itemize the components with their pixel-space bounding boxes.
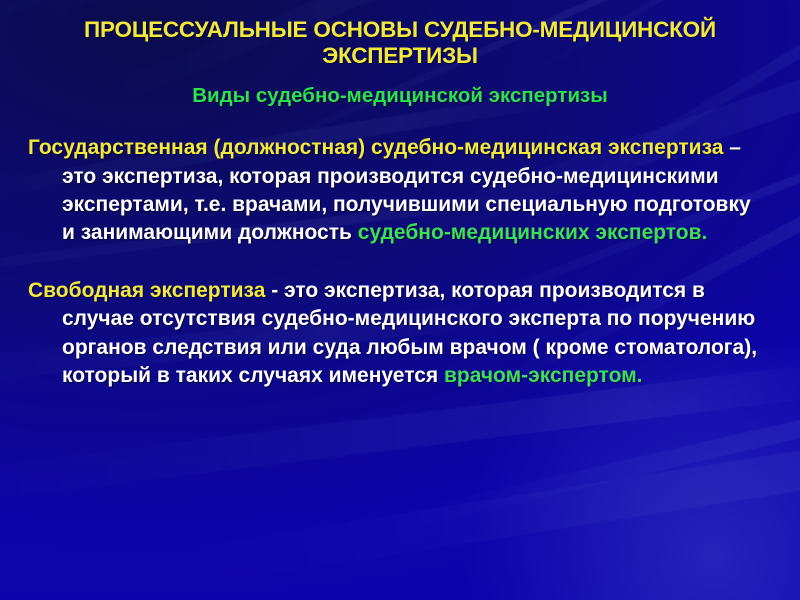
slide-content: ПРОЦЕССУАЛЬНЫЕ ОСНОВЫ СУДЕБНО-МЕДИЦИНСКО… [0,0,800,600]
slide-body: Государственная (должностная) судебно-ме… [18,134,782,390]
presentation-slide: ПРОЦЕССУАЛЬНЫЕ ОСНОВЫ СУДЕБНО-МЕДИЦИНСКО… [0,0,800,600]
definition-paragraph-state-expertise: Государственная (должностная) судебно-ме… [24,134,768,247]
slide-title: ПРОЦЕССУАЛЬНЫЕ ОСНОВЫ СУДЕБНО-МЕДИЦИНСКО… [24,17,776,68]
slide-subtitle: Виды судебно-медицинской экспертизы [18,84,782,108]
term-forensic-medical-experts: судебно-медицинских экспертов. [358,221,708,244]
term-state-forensic-examination: Государственная (должностная) судебно-ме… [28,136,723,159]
term-free-examination: Свободная экспертиза [28,279,265,302]
definition-paragraph-free-expertise: Свободная экспертиза - это экспертиза, к… [24,277,768,390]
term-doctor-expert: врачом-экспертом. [444,364,643,387]
